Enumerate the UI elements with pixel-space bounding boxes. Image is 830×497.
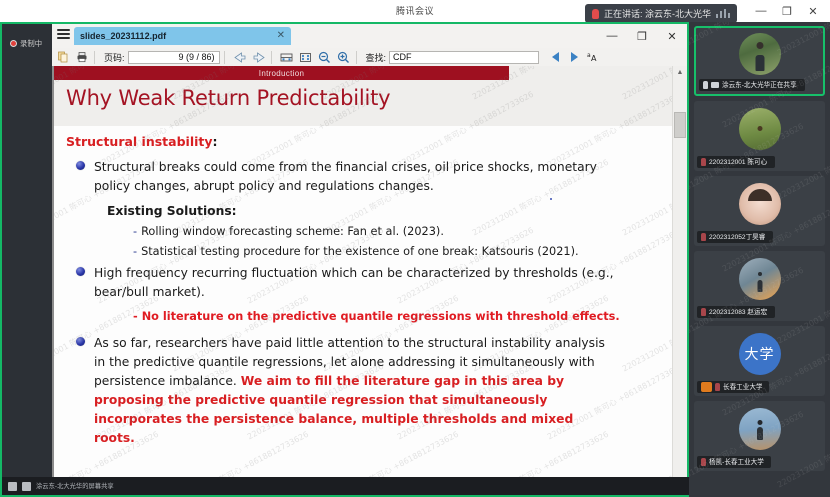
slide-bullet-1-text: Structural breaks could come from the fi… [94, 158, 614, 196]
participant-name-2: 2202312001 陈可心 [709, 157, 767, 166]
slide-lead-colon: : [213, 134, 218, 149]
recording-strip: 录制中 [2, 24, 52, 495]
svg-text:A: A [591, 54, 597, 63]
app-title: 腾讯会议 [396, 4, 434, 17]
close-icon[interactable]: ✕ [277, 30, 285, 42]
recording-badge[interactable]: 录制中 [10, 38, 44, 49]
meeting-window-controls: — ❐ ✕ [748, 0, 826, 22]
next-page-icon[interactable] [251, 49, 267, 65]
speaking-indicator: 正在讲话: 涂云东-北大光华 [585, 4, 737, 23]
recording-label: 录制中 [20, 38, 42, 48]
participant-tile-5[interactable]: 大学 长春工业大学 [694, 326, 825, 396]
camera-icon [711, 82, 719, 88]
meeting-close-button[interactable]: ✕ [800, 0, 826, 22]
slide-stray-marker [550, 198, 552, 200]
participant-nameplate-2: 2202312001 陈可心 [697, 156, 775, 168]
toolbar-separator [94, 51, 95, 64]
find-label: 查找: [366, 51, 387, 64]
avatar-2 [739, 108, 781, 150]
screen-root: 腾讯会议 — ❐ ✕ 正在讲话: 涂云东-北大光华 录制中 slides_ [0, 0, 830, 497]
mic-muted-icon-4 [701, 308, 706, 316]
pdf-reader-window: slides_20231112.pdf ✕ — ❐ ✕ 页码: 9 ( [52, 24, 687, 495]
taskbar-app-icon-2[interactable] [22, 482, 31, 491]
pdf-maximize-button[interactable]: ❐ [627, 24, 657, 48]
participant-tile-6[interactable]: 杨凯-长春工业大学 [694, 401, 825, 471]
toolbar-separator-4 [356, 51, 357, 64]
avatar-6 [739, 408, 781, 450]
taskbar-app-icon[interactable] [8, 482, 17, 491]
avatar-3 [739, 183, 781, 225]
pdf-close-button[interactable]: ✕ [657, 24, 687, 48]
participant-nameplate-4: 2202312083 赵运宏 [697, 306, 775, 318]
toolbar-separator-3 [271, 51, 272, 64]
bullet-marker-icon-2 [76, 267, 85, 276]
participant-nameplate-5: 长春工业大学 [697, 381, 769, 393]
participant-name-6: 杨凯-长春工业大学 [709, 457, 764, 466]
mic-muted-icon-6 [701, 458, 706, 466]
zoom-out-icon[interactable] [317, 49, 333, 65]
avatar [739, 33, 781, 75]
page-input[interactable]: 9 (9 / 86) [128, 51, 220, 64]
record-dot-icon [10, 40, 17, 47]
find-input[interactable]: CDF [389, 51, 539, 64]
meeting-minimize-button[interactable]: — [748, 0, 774, 22]
dash-icon-3: - [133, 310, 138, 323]
pdf-page-view[interactable]: Introduction Why Weak Return Predictabil… [52, 66, 687, 495]
taskbar-label: 涂云东-北大光华的屏幕共享 [36, 482, 114, 491]
mic-muted-icon [701, 158, 706, 166]
slide-page: Introduction Why Weak Return Predictabil… [54, 66, 673, 495]
participant-nameplate-3: 2202312052丁昊睿 [697, 231, 773, 243]
shared-screen-frame: 录制中 slides_20231112.pdf ✕ — ❐ ✕ [0, 22, 689, 497]
participant-nameplate-6: 杨凯-长春工业大学 [697, 456, 771, 468]
mic-icon [703, 81, 708, 89]
slide-bullet-2-sub-red: -No literature on the predictive quantil… [133, 309, 620, 326]
toolbar-separator-2 [224, 51, 225, 64]
audio-wave-icon [716, 9, 730, 18]
slide-bullet-1-sub-1-text: Rolling window forecasting scheme: Fan e… [141, 225, 444, 238]
avatar-4 [739, 258, 781, 300]
avatar-5: 大学 [739, 333, 781, 375]
page-label: 页码: [104, 51, 125, 64]
scroll-up-icon[interactable]: ▲ [673, 66, 687, 79]
prev-page-icon[interactable] [232, 49, 248, 65]
slide-section-title: Introduction [54, 66, 509, 80]
slide-lead: Structural instability: [66, 134, 218, 149]
participant-tile-2[interactable]: 2202312001 陈可心 [694, 101, 825, 171]
slide-bullet-2: High frequency recurring fluctuation whi… [76, 264, 636, 302]
match-case-icon[interactable]: aA [585, 49, 601, 65]
microphone-icon [592, 9, 599, 19]
menu-icon[interactable] [57, 29, 70, 41]
copy-icon[interactable] [55, 49, 71, 65]
bullet-marker-icon [76, 161, 85, 170]
pdf-toolbar: 页码: 9 (9 / 86) [52, 48, 687, 67]
meeting-maximize-button[interactable]: ❐ [774, 0, 800, 22]
slide-section-bar: Introduction [54, 66, 673, 80]
find-next-icon[interactable] [566, 49, 582, 65]
slide-bullet-3-text: As so far, researchers have paid little … [94, 334, 614, 448]
zoom-in-icon[interactable] [336, 49, 352, 65]
print-icon[interactable] [74, 49, 90, 65]
mic-muted-icon-3 [701, 233, 706, 241]
fit-page-icon[interactable] [298, 49, 314, 65]
slide-bullet-2-sub-red-text: No literature on the predictive quantile… [142, 310, 620, 323]
slide-title-area: Why Weak Return Predictability [54, 80, 673, 126]
participant-name-5: 长春工业大学 [723, 382, 762, 391]
bullet-marker-icon-3 [76, 337, 85, 346]
speaking-label: 正在讲话: 涂云东-北大光华 [604, 7, 711, 20]
scrollbar-thumb[interactable] [674, 112, 686, 138]
slide-bullet-1: Structural breaks could come from the fi… [76, 158, 636, 196]
pdf-vertical-scrollbar[interactable]: ▲ ▼ [672, 66, 687, 495]
participant-tile-4[interactable]: 2202312083 赵运宏 [694, 251, 825, 321]
dash-icon-2: - [133, 245, 137, 258]
avatar-text-5: 大学 [745, 344, 775, 364]
mic-muted-icon-5 [715, 383, 720, 391]
pdf-tab-label: slides_20231112.pdf [80, 31, 166, 41]
slide-body: Structural instability: Structural break… [54, 126, 673, 479]
fit-width-icon[interactable] [279, 49, 295, 65]
slide-bullet-2-text: High frequency recurring fluctuation whi… [94, 264, 614, 302]
participants-rail[interactable]: 涂云东-北大光华正在共享 2202312001 陈可心 2202312052丁昊… [689, 22, 830, 497]
shared-taskbar: 涂云东-北大光华的屏幕共享 [2, 477, 693, 495]
slide-bullet-1-sub-1: -Rolling window forecasting scheme: Fan … [133, 224, 444, 241]
pdf-tab[interactable]: slides_20231112.pdf ✕ [74, 27, 291, 45]
participant-tile-1[interactable]: 涂云东-北大光华正在共享 [694, 26, 825, 96]
host-icon [701, 382, 712, 392]
participant-name-3: 2202312052丁昊睿 [709, 232, 765, 241]
slide-existing-solutions-heading: Existing Solutions: [107, 204, 237, 218]
participant-tile-3[interactable]: 2202312052丁昊睿 [694, 176, 825, 246]
slide-bullet-1-sub-2: -Statistical testing procedure for the e… [133, 244, 579, 261]
pdf-tabbar: slides_20231112.pdf ✕ — ❐ ✕ [52, 24, 687, 49]
slide-lead-text: Structural instability [66, 134, 213, 149]
slide-bullet-3: As so far, researchers have paid little … [76, 334, 636, 448]
participant-nameplate-1: 涂云东-北大光华正在共享 [699, 79, 805, 91]
participant-name-1: 涂云东-北大光华正在共享 [722, 80, 797, 89]
slide-title: Why Weak Return Predictability [66, 86, 390, 110]
slide-bullet-1-sub-2-text: Statistical testing procedure for the ex… [141, 245, 578, 258]
pdf-window-controls: — ❐ ✕ [597, 24, 687, 48]
pdf-minimize-button[interactable]: — [597, 24, 627, 48]
dash-icon: - [133, 225, 137, 238]
find-prev-icon[interactable] [547, 49, 563, 65]
participant-name-4: 2202312083 赵运宏 [709, 307, 767, 316]
